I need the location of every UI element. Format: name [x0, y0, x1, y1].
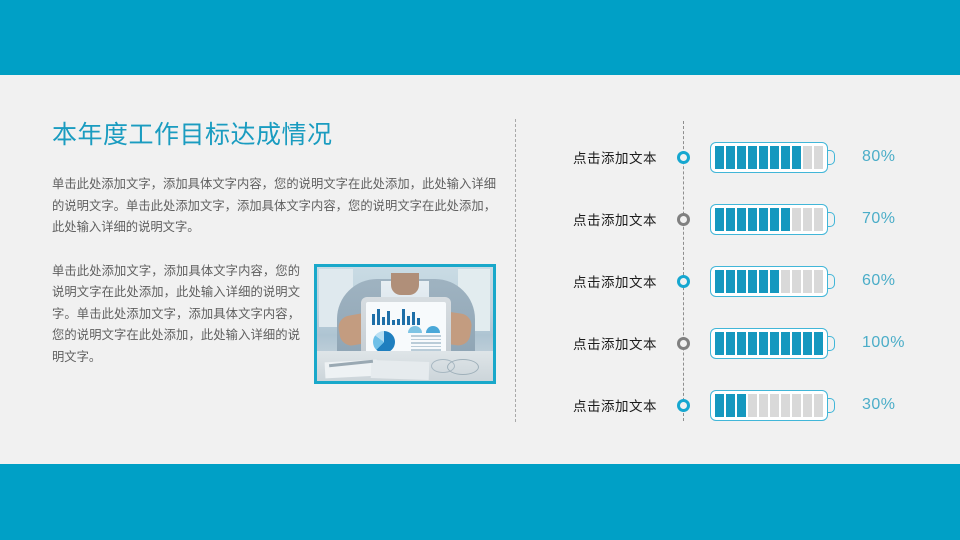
- photo-paper-2: [371, 359, 430, 379]
- battery-cell: [726, 394, 735, 417]
- column-divider-dashed: [515, 119, 516, 422]
- battery-cell: [781, 208, 790, 231]
- battery-cell: [715, 208, 724, 231]
- body-paragraph-2-block: 单击此处添加文字，添加具体文字内容，您的说明文字在此处添加，此处输入详细的说明文…: [52, 261, 496, 369]
- battery-cell: [759, 208, 768, 231]
- battery-cell: [726, 146, 735, 169]
- battery-cell: [770, 394, 779, 417]
- page-title: 本年度工作目标达成情况: [52, 118, 496, 152]
- top-accent-bar-edge: [0, 70, 960, 75]
- timeline-dot-icon: [677, 275, 690, 288]
- progress-row-list: 点击添加文本80%点击添加文本70%点击添加文本60%点击添加文本100%点击添…: [520, 126, 940, 436]
- battery-cell: [748, 270, 757, 293]
- progress-percent-label: 30%: [862, 396, 896, 414]
- progress-row: 点击添加文本100%: [520, 312, 940, 374]
- progress-row: 点击添加文本80%: [520, 126, 940, 188]
- timeline-dot-icon: [677, 213, 690, 226]
- battery-cell: [814, 146, 823, 169]
- battery-cell: [792, 208, 801, 231]
- progress-row-label[interactable]: 点击添加文本: [520, 271, 687, 291]
- battery-cell: [737, 146, 746, 169]
- photo-chart-bars-icon: [372, 307, 420, 325]
- battery-cell: [715, 332, 724, 355]
- timeline-dot-icon: [677, 337, 690, 350]
- battery-cell: [759, 394, 768, 417]
- battery-cell: [748, 332, 757, 355]
- battery-cell: [781, 394, 790, 417]
- battery-cell: [814, 208, 823, 231]
- progress-row-label[interactable]: 点击添加文本: [520, 395, 687, 415]
- battery-cell: [781, 146, 790, 169]
- battery-cell: [770, 208, 779, 231]
- battery-cell: [814, 332, 823, 355]
- battery-cell: [726, 332, 735, 355]
- battery-progress-bar[interactable]: [710, 328, 828, 359]
- body-paragraph-1: 单击此处添加文字，添加具体文字内容，您的说明文字在此处添加，此处输入详细的说明文…: [52, 174, 496, 239]
- photo-person-neck: [391, 273, 419, 295]
- progress-percent-label: 70%: [862, 210, 896, 228]
- battery-cell: [803, 146, 812, 169]
- body-paragraph-2: 单击此处添加文字，添加具体文字内容，您的说明文字在此处添加，此处输入详细的说明文…: [52, 264, 300, 364]
- battery-cell: [715, 146, 724, 169]
- top-accent-bar: [0, 0, 960, 75]
- battery-cell: [748, 208, 757, 231]
- progress-percent-label: 80%: [862, 148, 896, 166]
- photo-chart-donut-2-icon: [408, 326, 422, 333]
- photo-tablet-screen: [366, 302, 446, 358]
- battery-cell: [814, 270, 823, 293]
- battery-cell: [759, 332, 768, 355]
- timeline-dot-icon: [677, 151, 690, 164]
- bottom-accent-bar: [0, 464, 960, 540]
- photo-glasses-lens-right: [447, 359, 479, 375]
- battery-cell: [737, 394, 746, 417]
- timeline-dot-icon: [677, 399, 690, 412]
- tablet-photo: [314, 264, 496, 384]
- battery-cell: [726, 270, 735, 293]
- battery-cell: [792, 394, 801, 417]
- battery-cell: [803, 208, 812, 231]
- battery-progress-bar[interactable]: [710, 390, 828, 421]
- battery-cell: [770, 146, 779, 169]
- battery-cell: [726, 208, 735, 231]
- progress-row-label[interactable]: 点击添加文本: [520, 147, 687, 167]
- battery-cell: [759, 146, 768, 169]
- battery-progress-bar[interactable]: [710, 142, 828, 173]
- progress-percent-label: 100%: [862, 334, 905, 352]
- progress-row: 点击添加文本60%: [520, 250, 940, 312]
- battery-progress-bar[interactable]: [710, 204, 828, 235]
- slide: 本年度工作目标达成情况 单击此处添加文字，添加具体文字内容，您的说明文字在此处添…: [0, 0, 960, 540]
- battery-cell: [737, 208, 746, 231]
- battery-cell: [803, 394, 812, 417]
- progress-row: 点击添加文本70%: [520, 188, 940, 250]
- battery-cell: [715, 394, 724, 417]
- battery-cell: [814, 394, 823, 417]
- photo-chart-pie-icon: [373, 331, 395, 353]
- battery-cell: [803, 332, 812, 355]
- battery-cell: [737, 270, 746, 293]
- battery-cell: [792, 270, 801, 293]
- left-content-column: 本年度工作目标达成情况 单击此处添加文字，添加具体文字内容，您的说明文字在此处添…: [52, 118, 496, 388]
- photo-image: [317, 267, 493, 381]
- progress-row-label[interactable]: 点击添加文本: [520, 209, 687, 229]
- battery-cell: [770, 332, 779, 355]
- battery-cell: [748, 146, 757, 169]
- photo-chart-donut-icon: [426, 326, 440, 333]
- battery-cell: [737, 332, 746, 355]
- battery-cell: [715, 270, 724, 293]
- battery-cell: [781, 270, 790, 293]
- battery-cell: [781, 332, 790, 355]
- battery-cell: [748, 394, 757, 417]
- battery-cell: [803, 270, 812, 293]
- progress-row: 点击添加文本30%: [520, 374, 940, 436]
- progress-row-label[interactable]: 点击添加文本: [520, 333, 687, 353]
- battery-cell: [792, 332, 801, 355]
- battery-cell: [792, 146, 801, 169]
- battery-cell: [759, 270, 768, 293]
- battery-cell: [770, 270, 779, 293]
- battery-progress-bar[interactable]: [710, 266, 828, 297]
- progress-percent-label: 60%: [862, 272, 896, 290]
